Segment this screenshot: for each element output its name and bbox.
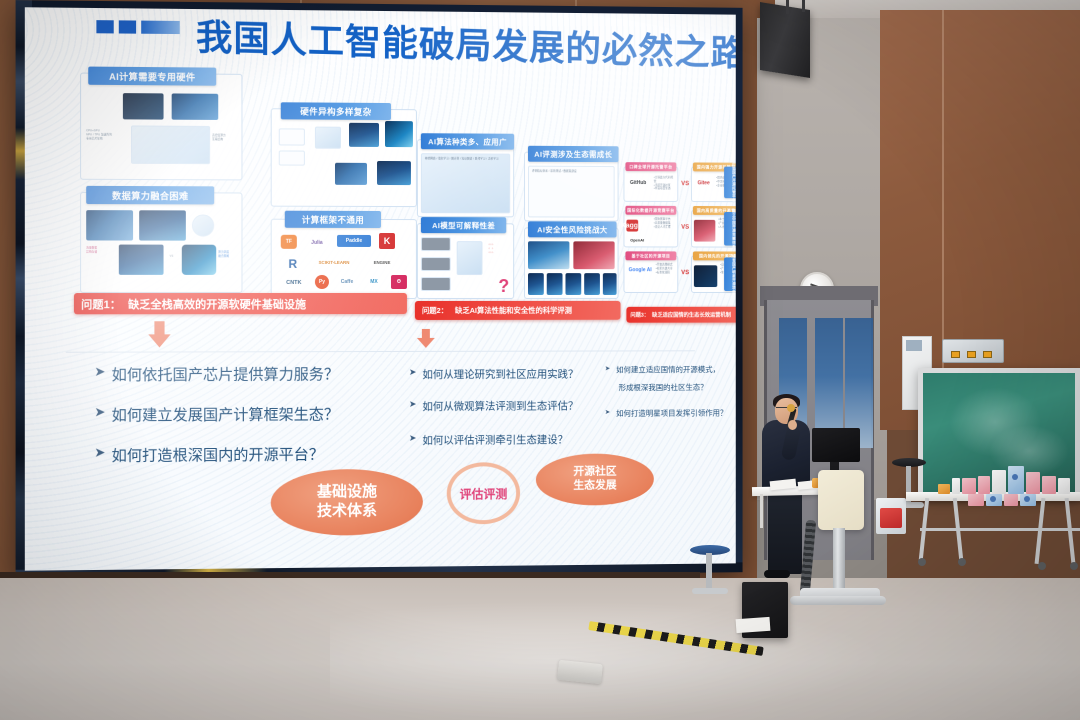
floor-reflection — [330, 600, 890, 720]
product-box — [952, 478, 960, 494]
framework-logo: Paddle — [337, 235, 371, 247]
card-caption: 海量数据异构存储 — [86, 247, 97, 255]
problem-number: 问题2： — [415, 305, 448, 316]
google-logo: Google AI — [625, 265, 654, 275]
pain-label-3: 数据算力融合困难 — [86, 186, 214, 205]
vs-bullets: ▪国际赛事平台▪高质量数据集▪顶尖人才汇聚 — [654, 218, 677, 229]
podium-leg — [760, 494, 763, 528]
card-caption: ○○○○ ○○○○ — [488, 243, 493, 254]
card-thumb — [694, 220, 715, 242]
card-thumb — [385, 121, 413, 147]
stool-pole — [706, 553, 712, 591]
product-box — [978, 476, 990, 494]
bullet-arrow-icon: ➤ — [605, 364, 610, 372]
stool-foot — [692, 588, 728, 594]
table-caster-wheel — [1038, 562, 1046, 570]
product-circle-graphic — [1012, 474, 1018, 480]
control-indicator — [967, 351, 976, 358]
question-row: 形成根深我国的社区生态？ — [619, 382, 708, 393]
product-box — [1026, 472, 1040, 494]
problem-text: 缺乏AI算法性能和安全性的科学评测 — [448, 305, 572, 316]
gitee-logo: Gitee — [694, 178, 713, 187]
foreground-audience — [985, 620, 1080, 720]
kaggle-logo: Kaggle — [626, 220, 638, 232]
cabinet-label — [906, 340, 922, 351]
openai-logo: OpenAI — [624, 235, 649, 244]
problem-number: 问题1： — [74, 296, 121, 312]
mobile-cart-panel — [818, 470, 864, 530]
table-leg — [1035, 498, 1046, 564]
presenter-hand — [788, 420, 797, 430]
pain-label-6: AI评测涉及生态需成长 — [528, 146, 619, 162]
paper-on-floor — [736, 617, 771, 633]
vs-bullets: ▪全球最大代码托管▪活跃开源社区▪丰富项目生态 — [654, 176, 676, 191]
card-thumb — [279, 150, 305, 165]
question-text: 如何从理论研究到社区应用实践？ — [422, 366, 578, 381]
question-row: ➤ 如何打造明星项目发挥引领作用？ — [605, 407, 728, 418]
framework-logo: TF — [281, 235, 297, 249]
oval-line-2: 技术体系 — [317, 502, 377, 521]
product-box — [962, 478, 976, 494]
card-thumb — [694, 265, 717, 287]
pain-label-4: 计算框架不通用 — [285, 211, 381, 228]
question-text: 如何打造根深国内的开源平台？ — [112, 443, 324, 465]
card-thumb — [123, 93, 164, 120]
bullet-arrow-icon: ➤ — [605, 408, 610, 416]
card-thumb — [139, 210, 186, 240]
crate-label — [880, 508, 902, 528]
product-circle-graphic — [1024, 496, 1030, 502]
card-caption: 神经网络 / 强化学习 / 图计算 / 知识图谱 / 联邦学习 / 迁移学习 — [425, 157, 499, 161]
cart-column — [833, 528, 845, 588]
question-row: ➤ 如何依托国产芯片提供算力服务？ — [94, 363, 339, 385]
card-caption: 算力调度融合困难 — [218, 251, 242, 259]
ceiling-speaker — [760, 2, 810, 78]
title-dash-decoration — [96, 20, 179, 34]
problem-bar-2: 问题2： 缺乏AI算法性能和安全性的科学评测 — [415, 301, 621, 320]
vs-label: VS — [681, 269, 689, 278]
oval-line-1: 评估评测 — [460, 485, 508, 502]
question-text: 形成根深我国的社区生态？ — [619, 382, 708, 393]
microphone-head-icon — [787, 404, 795, 412]
table-leg — [1065, 498, 1076, 564]
card-thumb — [421, 153, 510, 213]
vs-bullets: ▪开放治理模式▪社区共建共享▪标准化流程 — [656, 263, 678, 274]
question-text: 如何建立发展国产计算框架生态？ — [112, 403, 339, 425]
bullet-arrow-icon: ➤ — [409, 399, 417, 410]
product-box — [1008, 466, 1024, 494]
question-row: ➤ 如何打造根深国内的开源平台？ — [94, 443, 324, 466]
bullet-arrow-icon: ➤ — [94, 404, 105, 420]
pain-card-3 — [80, 192, 242, 293]
card-thumb — [172, 93, 219, 119]
card-thumb — [182, 245, 216, 275]
card-thumb — [279, 128, 305, 145]
question-row: ➤ 如何以评估评测牵引生态建设？ — [409, 432, 568, 448]
card-thumb — [315, 127, 341, 149]
pain-label-2: 硬件异构多样复杂 — [281, 102, 391, 120]
question-text: 如何打造明星项目发挥引领作用？ — [616, 407, 727, 418]
card-thumb — [457, 241, 483, 275]
question-text: 如何依托国产芯片提供算力服务？ — [112, 363, 339, 385]
vs-title-left-3: 基于社区的开源项目 — [625, 251, 676, 260]
pain-label-1: AI计算需要专用硬件 — [88, 67, 216, 86]
oval-line-1: 开源社区 — [573, 466, 616, 480]
framework-logo: K — [379, 233, 395, 249]
framework-logo: MX — [363, 275, 385, 289]
vs-label: VS — [681, 224, 689, 233]
product-box — [1058, 478, 1070, 494]
vs-result-2: 建立中国开源竞赛体系 — [724, 212, 736, 246]
pain-label-8: AI安全性风险挑战大 — [528, 221, 617, 237]
card-thumb — [86, 210, 133, 240]
lecture-hall-scene: 我国人工智能破局发展的必然之路 AI计算需要专用硬件 CPU+GPUNPU / … — [0, 0, 1080, 720]
card-thumb — [119, 245, 164, 275]
pain-label-7: AI模型可解释性差 — [421, 217, 506, 233]
card-caption: 高密度算力互联结构 — [212, 134, 238, 142]
table-caster-wheel — [1070, 562, 1078, 570]
framework-logo: Caffe — [337, 275, 357, 289]
speaker-mount — [802, 0, 805, 12]
question-text: 如何以评估评测牵引生态建设？ — [422, 432, 568, 448]
question-row: ➤ 如何建立发展国产计算框架生态？ — [94, 403, 339, 425]
card-thumb — [584, 273, 600, 295]
oval-line-1: 基础设施 — [317, 483, 377, 502]
framework-logo: ENGINE — [365, 257, 399, 267]
problem-text: 缺乏全栈高效的开源软硬件基础设施 — [121, 296, 306, 312]
product-box — [1042, 476, 1056, 494]
question-text: 如何建立适应国情的开源模式， — [616, 364, 720, 375]
cart-base-foot — [790, 596, 886, 605]
card-caption: CPU+GPUNPU / TPU 加速阵列专用芯片架构 — [86, 129, 125, 141]
card-thumb — [528, 241, 569, 269]
card-thumb — [192, 214, 214, 236]
product-box — [992, 470, 1006, 494]
question-row: ➤ 如何建立适应国情的开源模式， — [605, 364, 720, 375]
vs-label: VS — [681, 180, 689, 189]
vs-result-1: 打造国产开源托管平台 — [724, 167, 736, 199]
vs-title-left-2: 国际化数据开源竞赛平台 — [625, 206, 676, 215]
product-box — [938, 484, 950, 494]
card-thumb — [528, 273, 544, 295]
control-panel — [942, 339, 1004, 363]
github-logo: GitHub — [626, 178, 650, 187]
framework-logo: CNTK — [281, 277, 307, 289]
pain-label-5: AI算法种类多、应用广 — [421, 133, 514, 149]
card-thumb — [349, 123, 379, 147]
bullet-arrow-icon: ➤ — [94, 364, 105, 380]
problem-bar-3: 问题3： 缺乏适应国情的生态长效运营机制 — [626, 307, 735, 323]
problem-text: 缺乏适应国情的生态长效运营机制 — [649, 311, 731, 319]
table-caster-wheel — [958, 558, 966, 566]
framework-logo: Θ — [391, 275, 407, 289]
card-thumb — [335, 163, 367, 185]
vs-result-3: 培育国产明星开源项目 — [724, 257, 736, 291]
presenter-shoe — [764, 570, 790, 578]
bullet-arrow-icon: ➤ — [94, 445, 105, 461]
oval-line-2: 生态发展 — [573, 479, 616, 493]
conclusion-oval-2-ring: 评估评测 — [447, 462, 520, 524]
card-thumb — [421, 277, 451, 291]
product-box — [968, 494, 984, 506]
led-wall-screen: 我国人工智能破局发展的必然之路 AI计算需要专用硬件 CPU+GPUNPU / … — [16, 0, 743, 580]
card-thumb — [547, 273, 563, 295]
card-caption: 评测指标体系 / 基准测试 / 数据集建设 — [532, 170, 577, 174]
product-box — [1004, 494, 1018, 506]
card-thumb — [565, 273, 581, 295]
desktop-monitor — [812, 428, 860, 462]
framework-logo: R — [283, 255, 303, 273]
question-row: ➤ 如何从理论研究到社区应用实践？ — [409, 366, 578, 381]
control-indicator — [983, 351, 992, 358]
problem-number: 问题3： — [626, 311, 649, 319]
card-thumb — [603, 273, 617, 295]
table-caster-wheel — [918, 558, 926, 566]
product-circle-graphic — [990, 496, 996, 502]
presenter-legs — [768, 488, 802, 574]
control-indicator — [951, 351, 960, 358]
vs-title-left-1: 口碑全球开源托管平台 — [625, 162, 676, 171]
framework-logo: Julia — [303, 237, 331, 248]
question-text: 如何从微观算法评测到生态评估？ — [422, 398, 578, 414]
framework-logo: SCIKIT-LEARN — [311, 257, 357, 267]
card-thumb — [573, 241, 614, 269]
bullet-arrow-icon: ➤ — [409, 433, 417, 444]
speaker-mount — [786, 0, 789, 14]
question-row: ➤ 如何从微观算法评测到生态评估？ — [409, 398, 578, 414]
table-crossbar — [920, 528, 1080, 531]
question-mark-graphic: ? — [498, 273, 509, 299]
card-thumb — [131, 125, 210, 164]
bullet-arrow-icon: ➤ — [409, 367, 417, 378]
card-thumb — [377, 161, 411, 185]
card-thumb — [421, 237, 451, 251]
card-caption: VS — [170, 255, 174, 259]
card-thumb — [421, 257, 451, 271]
framework-logo: Py — [315, 275, 329, 289]
problem-bar-1: 问题1： 缺乏全栈高效的开源软硬件基础设施 — [74, 293, 407, 314]
slide-surface: 我国人工智能破局发展的必然之路 AI计算需要专用硬件 CPU+GPUNPU / … — [25, 7, 736, 570]
